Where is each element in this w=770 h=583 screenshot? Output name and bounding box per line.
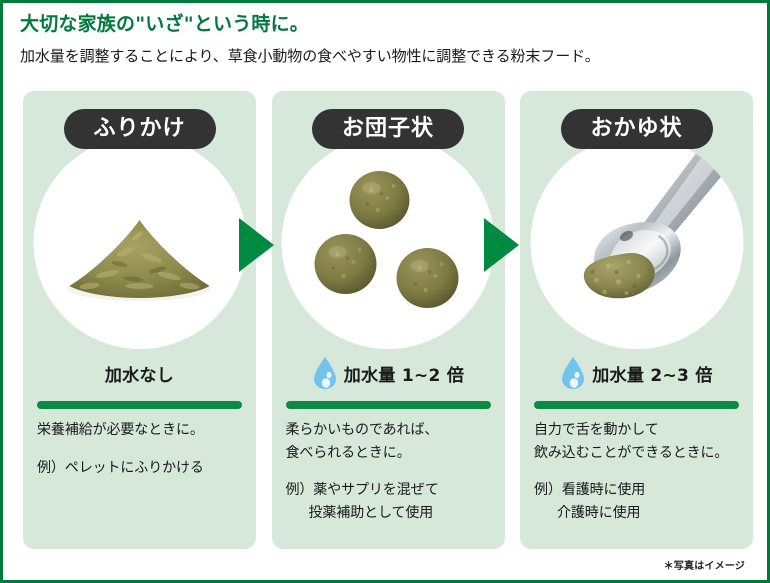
page-subtitle: 加水量を調整することにより、草食小動物の食べやすい物性に調整できる粉末フード。 bbox=[20, 45, 760, 68]
header-block: 大切な家族の"いざ"という時に。 加水量を調整することにより、草食小動物の食べや… bbox=[20, 11, 760, 67]
page-title: 大切な家族の"いざ"という時に。 bbox=[20, 11, 760, 38]
water-amount-row: 加水なし bbox=[23, 353, 256, 393]
divider-bar bbox=[286, 401, 491, 409]
arrow-right-icon bbox=[239, 218, 274, 272]
panel-furikake: ふりかけ bbox=[23, 91, 256, 549]
panel-body-copy: 自力で舌を動かして 飲み込むことができるときに。 例）看護時に使用 介護時に使用 bbox=[534, 419, 744, 525]
water-amount-label: 加水量 2~3 倍 bbox=[592, 361, 712, 386]
panel-pill-label: おかゆ状 bbox=[561, 109, 713, 149]
description-line: 栄養補給が必要なときに。 bbox=[37, 419, 247, 442]
description-line: 自力で舌を動かして bbox=[534, 419, 744, 442]
panel-photo-stage bbox=[282, 136, 495, 349]
example-block: 例）薬やサプリを混ぜて 投薬補助として使用 bbox=[286, 479, 496, 524]
water-amount-label: 加水量 1~2 倍 bbox=[344, 361, 464, 386]
panel-okayujo: おかゆ状 bbox=[520, 91, 753, 549]
divider-bar bbox=[534, 401, 739, 409]
water-drop-icon bbox=[312, 356, 338, 390]
example-block: 例）看護時に使用 介護時に使用 bbox=[534, 479, 744, 524]
footnote-text: ＊写真はイメージ bbox=[664, 557, 745, 572]
example-line: 例）看護時に使用 bbox=[534, 479, 744, 502]
example-block: 例）ペレットにふりかける bbox=[37, 457, 247, 480]
description-block: 栄養補給が必要なときに。 bbox=[37, 419, 247, 442]
water-amount-row: 加水量 1~2 倍 bbox=[272, 353, 505, 393]
description-block: 自力で舌を動かして 飲み込むことができるときに。 bbox=[534, 419, 744, 464]
panel-pill-label: お団子状 bbox=[312, 109, 464, 149]
water-drop-icon bbox=[560, 356, 586, 390]
powder-pile-photo bbox=[33, 136, 246, 349]
example-line: 投薬補助として使用 bbox=[286, 502, 496, 525]
panel-body-copy: 栄養補給が必要なときに。 例）ペレットにふりかける bbox=[37, 419, 247, 479]
panel-photo-stage bbox=[530, 136, 743, 349]
water-amount-row: 加水量 2~3 倍 bbox=[520, 353, 753, 393]
example-line: 介護時に使用 bbox=[534, 502, 744, 525]
panel-photo-stage bbox=[33, 136, 246, 349]
panel-pill-label: ふりかけ bbox=[64, 109, 216, 149]
description-line: 食べられるときに。 bbox=[286, 442, 496, 465]
description-line: 飲み込むことができるときに。 bbox=[534, 442, 744, 465]
example-line: 例）薬やサプリを混ぜて bbox=[286, 479, 496, 502]
spoon-porridge-photo bbox=[530, 136, 743, 349]
panel-odangojo: お団子状 bbox=[272, 91, 505, 549]
example-line: 例）ペレットにふりかける bbox=[37, 457, 247, 480]
panel-body-copy: 柔らかいものであれば、 食べられるときに。 例）薬やサプリを混ぜて 投薬補助とし… bbox=[286, 419, 496, 525]
infographic-frame: 大切な家族の"いざ"という時に。 加水量を調整することにより、草食小動物の食べや… bbox=[0, 0, 770, 583]
panel-row: ふりかけ bbox=[23, 91, 753, 549]
arrow-right-icon bbox=[484, 218, 519, 272]
water-amount-label: 加水なし bbox=[105, 361, 174, 386]
divider-bar bbox=[37, 401, 242, 409]
dango-balls-photo bbox=[282, 136, 495, 349]
description-line: 柔らかいものであれば、 bbox=[286, 419, 496, 442]
description-block: 柔らかいものであれば、 食べられるときに。 bbox=[286, 419, 496, 464]
